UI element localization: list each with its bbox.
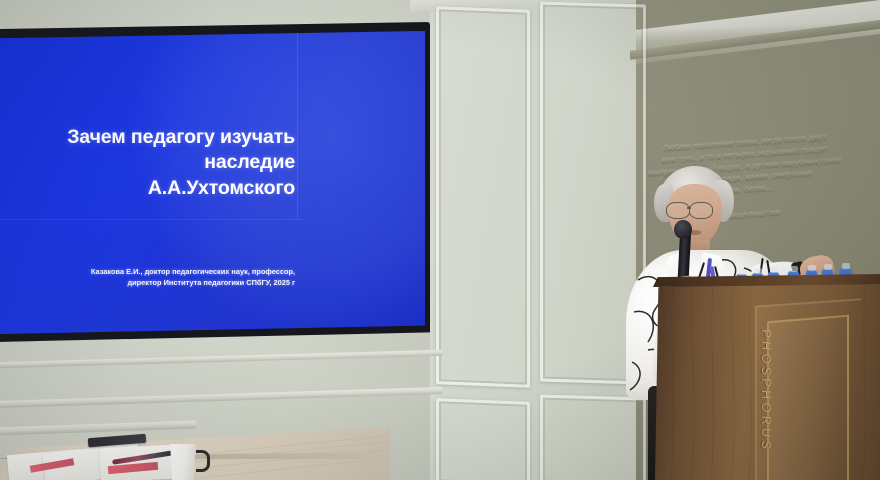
slide-subtitle-line-1: Казакова Е.И., доктор педагогических нау… <box>20 266 295 277</box>
slide-seam-horizontal <box>0 219 306 220</box>
wall-panel-base-1 <box>436 398 530 480</box>
glasses-bridge-icon <box>687 207 691 209</box>
slide-seam-vertical <box>297 31 298 219</box>
presentation-slide: Зачем педагогу изучать наследие А.А.Ухто… <box>0 31 425 334</box>
display-power-led-icon <box>208 338 213 341</box>
cup-handle <box>196 450 210 472</box>
podium-plate-label: PHOSPHORUS <box>759 329 773 480</box>
display-screen: Зачем педагогу изучать наследие А.А.Ухто… <box>0 31 425 334</box>
glasses-lens-right-icon <box>689 202 713 219</box>
wall-panel-tall-1 <box>436 6 530 388</box>
slide-subtitle: Казакова Е.И., доктор педагогических нау… <box>20 266 295 289</box>
slide-subtitle-line-2: директор Института педагогики СПбГУ, 202… <box>20 277 295 288</box>
glasses-lens-left-icon <box>666 202 690 219</box>
slide-title: Зачем педагогу изучать наследие А.А.Ухто… <box>16 125 295 201</box>
slide-title-line-2: наследие <box>16 150 295 175</box>
wall-display[interactable]: Зачем педагогу изучать наследие А.А.Ухто… <box>0 22 430 342</box>
lecture-scene-photo: Зачем педагогу изучать наследие А.А.Ухто… <box>0 0 880 480</box>
slide-title-line-1: Зачем педагогу изучать <box>16 125 295 150</box>
podium-gold-plate <box>767 315 849 480</box>
slide-title-line-3: А.А.Ухтомского <box>16 176 295 201</box>
paper-cup <box>168 444 198 480</box>
speaker-podium: PHOSPHORUS <box>655 278 880 480</box>
